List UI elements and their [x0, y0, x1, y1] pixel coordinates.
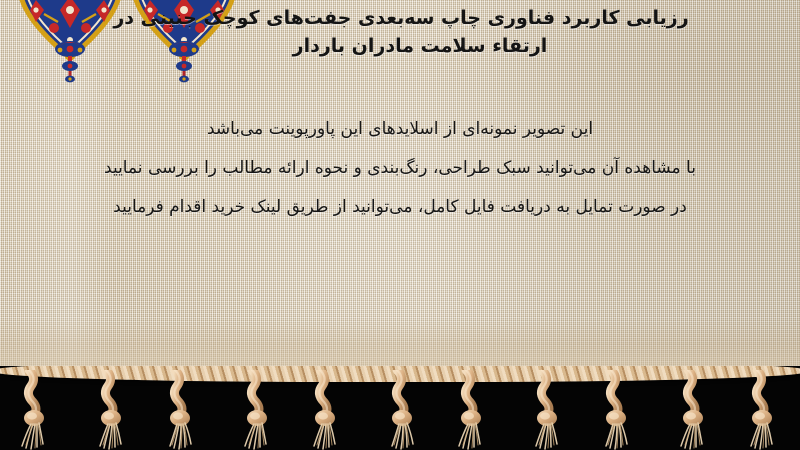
- cloth-bottom-shading: [0, 318, 800, 366]
- tassel: [230, 370, 284, 450]
- tassel: [298, 370, 352, 450]
- slide-title-line-2: ارتقاء سلامت مادران باردار: [40, 32, 800, 60]
- tassel: [7, 370, 61, 450]
- tassel: [444, 370, 498, 450]
- tassel: [666, 370, 720, 450]
- slide-title: رزیابی کاربرد فناوری چاپ سه‌بعدی جفت‌های…: [40, 4, 800, 60]
- tassel: [84, 370, 138, 450]
- tassel: [735, 370, 789, 450]
- body-line-2: با مشاهده آن می‌توانید سبک طراحی، رنگ‌بن…: [0, 149, 800, 188]
- tassel: [375, 370, 429, 450]
- tassel: [520, 370, 574, 450]
- slide-body: این تصویر نمونه‌ای از اسلایدهای این پاور…: [0, 110, 800, 227]
- body-line-1: این تصویر نمونه‌ای از اسلایدهای این پاور…: [0, 110, 800, 149]
- body-line-3: در صورت تمایل به دریافت فایل کامل، می‌تو…: [0, 188, 800, 227]
- tassel: [153, 370, 207, 450]
- carpet-fringe-tassels: [0, 366, 800, 450]
- tassel: [589, 370, 643, 450]
- slide-title-line-1: رزیابی کاربرد فناوری چاپ سه‌بعدی جفت‌های…: [40, 4, 762, 32]
- slide-canvas: رزیابی کاربرد فناوری چاپ سه‌بعدی جفت‌های…: [0, 0, 800, 450]
